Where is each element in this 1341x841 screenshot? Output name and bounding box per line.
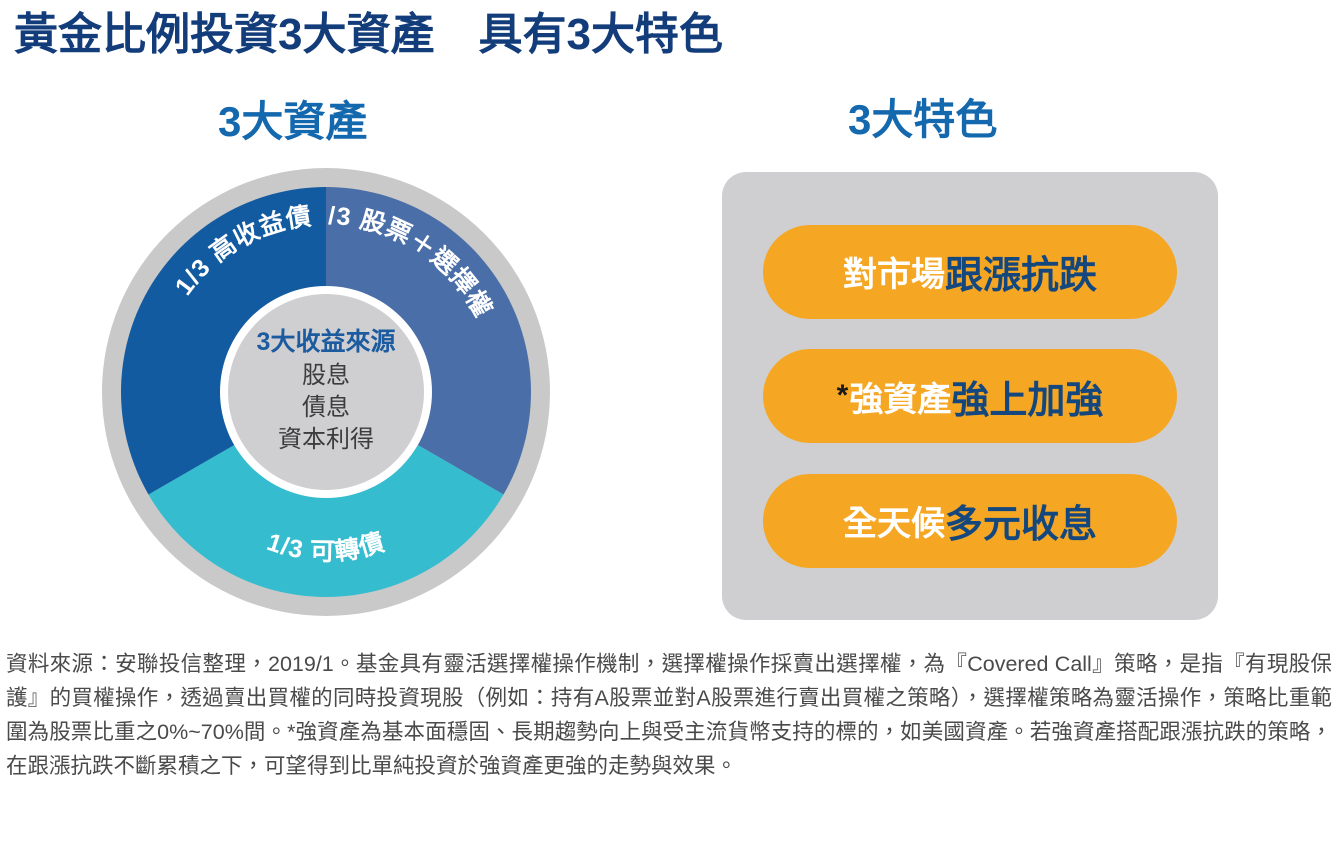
feature-pill-3-emphasis: 多元收息 xyxy=(945,493,1097,548)
donut-center-content: 3大收益來源 股息 債息 資本利得 xyxy=(228,294,424,490)
footnote-disclaimer: 資料來源：安聯投信整理，2019/1。基金具有靈活選擇權操作機制，選擇權操作採賣… xyxy=(6,648,1332,784)
feature-pill-2-asterisk: * xyxy=(837,381,849,411)
feature-pill-2-prefix: 強資產 xyxy=(849,372,951,421)
feature-pill-strong-asset[interactable]: * 強資產 強上加強 xyxy=(763,349,1177,443)
feature-pill-all-weather-income[interactable]: 全天候 多元收息 xyxy=(763,474,1177,568)
income-source-item-3: 資本利得 xyxy=(278,424,374,456)
income-source-item-1: 股息 xyxy=(302,360,350,392)
feature-pill-1-emphasis: 跟漲抗跌 xyxy=(945,244,1097,299)
section-heading-features: 3大特色 xyxy=(848,86,997,147)
features-panel: 對市場 跟漲抗跌 * 強資產 強上加強 全天候 多元收息 xyxy=(722,172,1218,620)
assets-donut-chart: 1/3 股票＋選擇權 1/3 可轉債 1/3 高收益債 3大收益來源 股息 債息… xyxy=(100,166,552,618)
feature-pill-2-emphasis: 強上加強 xyxy=(951,369,1103,424)
feature-pill-1-prefix: 對市場 xyxy=(843,247,945,296)
feature-pill-follow-rise-resist-fall[interactable]: 對市場 跟漲抗跌 xyxy=(763,225,1177,319)
income-source-item-2: 債息 xyxy=(302,392,350,424)
donut-center-heading: 3大收益來源 xyxy=(257,329,396,357)
feature-pill-3-prefix: 全天候 xyxy=(843,496,945,545)
section-heading-assets: 3大資產 xyxy=(218,88,367,149)
page-title: 黃金比例投資3大資產 具有3大特色 xyxy=(14,10,723,61)
